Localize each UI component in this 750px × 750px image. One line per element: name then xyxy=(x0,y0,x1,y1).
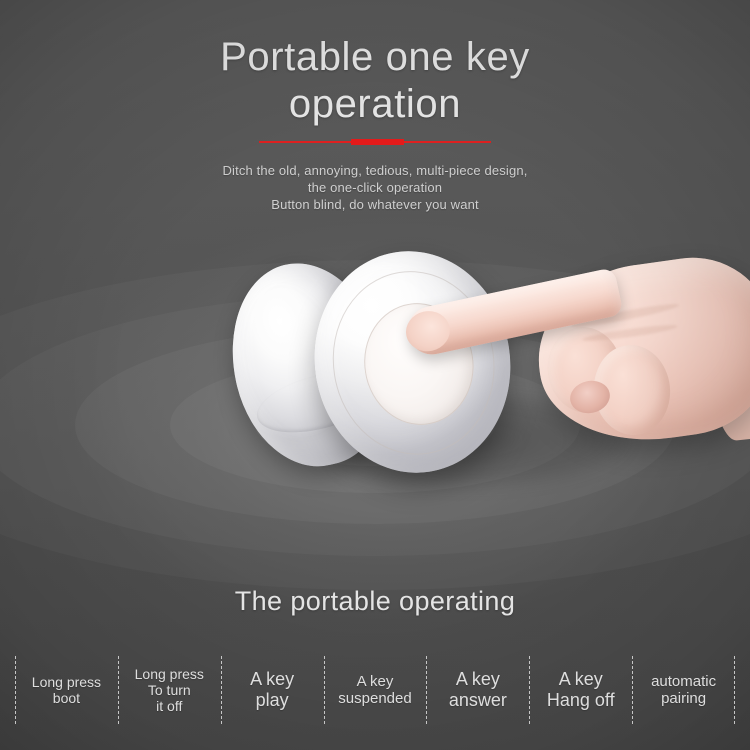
feature-item-key-play[interactable]: A key play xyxy=(221,650,324,730)
hand xyxy=(430,249,750,489)
feature-line-3: it off xyxy=(135,698,204,714)
feature-line-1: A key xyxy=(338,673,411,690)
product-photo xyxy=(0,215,750,555)
section-heading: The portable operating xyxy=(0,586,750,617)
feature-line-2: answer xyxy=(449,690,507,711)
divider-thick-accent xyxy=(351,139,404,145)
feature-line-2: play xyxy=(250,690,294,711)
subtitle-block: Ditch the old, annoying, tedious, multi-… xyxy=(0,163,750,214)
feature-item-long-press-off[interactable]: Long press To turn it off xyxy=(118,650,221,730)
product-marketing-banner: Portable one key operation Ditch the old… xyxy=(0,0,750,750)
feature-line-1: A key xyxy=(449,669,507,690)
feature-line-1: A key xyxy=(250,669,294,690)
page-title: Portable one key operation xyxy=(0,34,750,128)
feature-list: Long press boot Long press To turn it of… xyxy=(15,650,735,730)
feature-line-1: Long press xyxy=(135,666,204,682)
header-block: Portable one key operation Ditch the old… xyxy=(0,34,750,214)
feature-item-long-press-boot[interactable]: Long press boot xyxy=(15,650,118,730)
feature-line-2: boot xyxy=(32,690,101,706)
feature-line-1: automatic xyxy=(651,673,716,690)
title-line-2: operation xyxy=(0,81,750,128)
title-line-1: Portable one key xyxy=(220,35,530,79)
feature-item-automatic-pairing[interactable]: automatic pairing xyxy=(632,650,735,730)
feature-item-key-answer[interactable]: A key answer xyxy=(426,650,529,730)
subtitle-line-1: Ditch the old, annoying, tedious, multi-… xyxy=(0,163,750,180)
red-divider xyxy=(259,138,491,147)
feature-line-1: A key xyxy=(547,669,615,690)
feature-line-2: suspended xyxy=(338,690,411,707)
feature-line-1: Long press xyxy=(32,674,101,690)
feature-line-2: Hang off xyxy=(547,690,615,711)
subtitle-line-3: Button blind, do whatever you want xyxy=(0,197,750,214)
feature-line-2: pairing xyxy=(651,690,716,707)
feature-divider-last xyxy=(734,656,735,724)
feature-item-key-suspended[interactable]: A key suspended xyxy=(324,650,427,730)
feature-item-key-hang-off[interactable]: A key Hang off xyxy=(529,650,632,730)
subtitle-line-2: the one-click operation xyxy=(0,180,750,197)
feature-line-2: To turn xyxy=(135,682,204,698)
